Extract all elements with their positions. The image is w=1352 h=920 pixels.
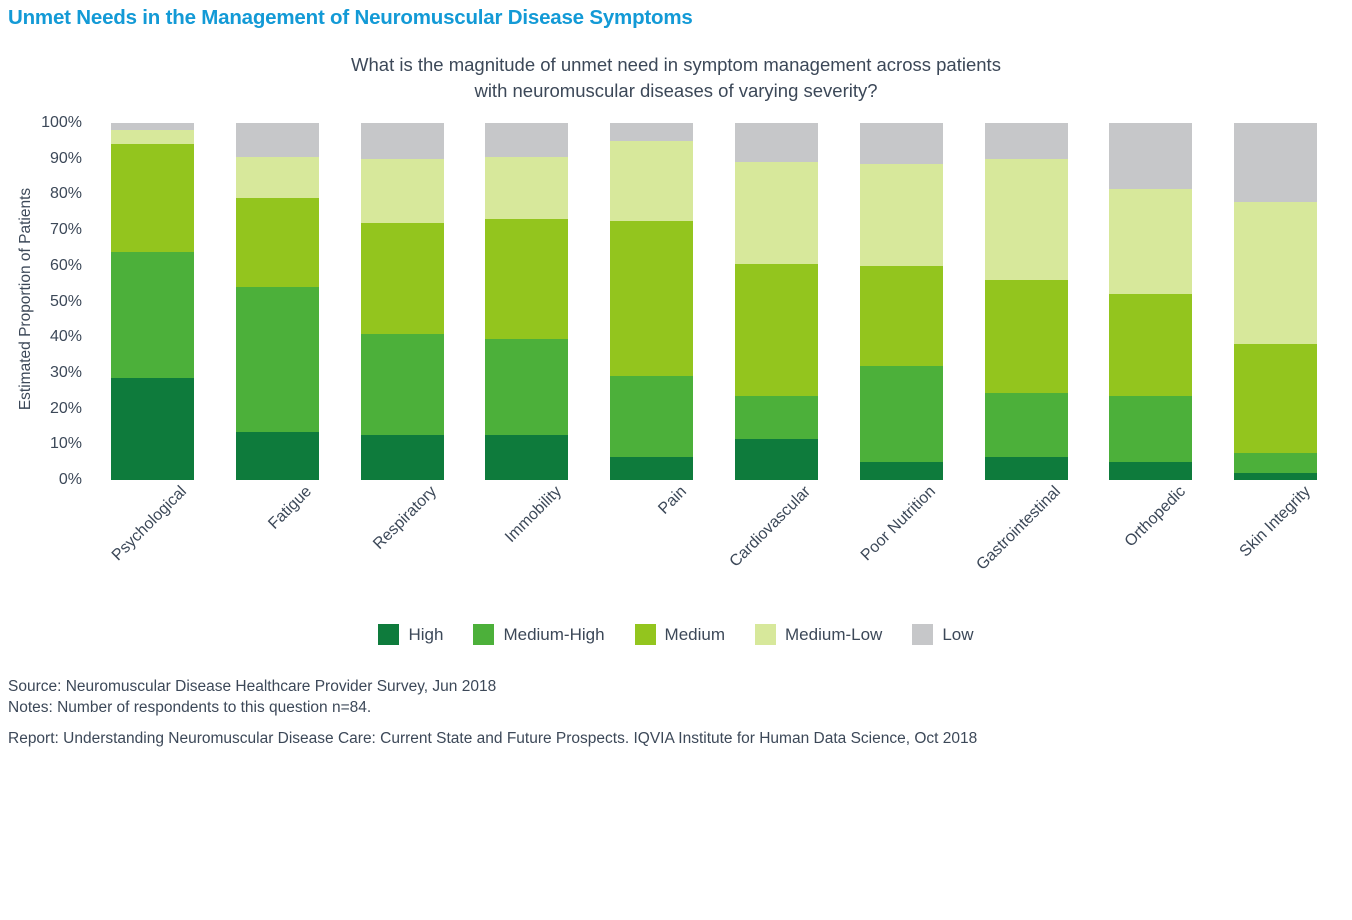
legend-item-medium[interactable]: Medium bbox=[635, 624, 725, 645]
bar-segment-low[interactable] bbox=[236, 123, 319, 157]
bar-segment-medium-high[interactable] bbox=[1234, 453, 1317, 473]
bar-segment-high[interactable] bbox=[860, 462, 943, 480]
bar-segment-low[interactable] bbox=[485, 123, 568, 157]
bar-stack bbox=[361, 123, 444, 480]
stacked-bars-container bbox=[90, 123, 1338, 480]
bar-segment-medium-high[interactable] bbox=[1109, 396, 1192, 462]
bar-segment-medium[interactable] bbox=[485, 219, 568, 339]
bar-segment-high[interactable] bbox=[735, 439, 818, 480]
bar-segment-low[interactable] bbox=[985, 123, 1068, 159]
bar-segment-medium-low[interactable] bbox=[1109, 189, 1192, 294]
bar-segment-high[interactable] bbox=[485, 435, 568, 480]
chart-footer: Source: Neuromuscular Disease Healthcare… bbox=[8, 676, 1344, 749]
bar-segment-medium-high[interactable] bbox=[985, 393, 1068, 457]
bar-segment-medium-high[interactable] bbox=[111, 252, 194, 379]
bar-segment-medium[interactable] bbox=[1109, 294, 1192, 396]
legend-item-medium-high[interactable]: Medium-High bbox=[473, 624, 604, 645]
bar-segment-medium-low[interactable] bbox=[236, 157, 319, 198]
bar-segment-medium-high[interactable] bbox=[485, 339, 568, 435]
bar-segment-medium-high[interactable] bbox=[361, 334, 444, 436]
legend-label: High bbox=[408, 625, 443, 645]
bar-segment-high[interactable] bbox=[361, 435, 444, 480]
bar-segment-medium-low[interactable] bbox=[361, 159, 444, 223]
bar-segment-high[interactable] bbox=[111, 378, 194, 480]
chart-legend: HighMedium-HighMediumMedium-LowLow bbox=[0, 624, 1352, 645]
bar-stack bbox=[610, 123, 693, 480]
bar-segment-medium-high[interactable] bbox=[610, 376, 693, 456]
bar-group-gastrointestinal[interactable] bbox=[985, 123, 1068, 480]
bar-group-psychological[interactable] bbox=[111, 123, 194, 480]
bar-segment-low[interactable] bbox=[610, 123, 693, 141]
bar-group-orthopedic[interactable] bbox=[1109, 123, 1192, 480]
bar-segment-high[interactable] bbox=[1234, 473, 1317, 480]
bar-segment-low[interactable] bbox=[1234, 123, 1317, 202]
bar-segment-low[interactable] bbox=[860, 123, 943, 164]
bar-segment-low[interactable] bbox=[1109, 123, 1192, 189]
bar-group-poor-nutrition[interactable] bbox=[860, 123, 943, 480]
y-axis-tick-100: 100% bbox=[26, 114, 82, 132]
bar-stack bbox=[860, 123, 943, 480]
footer-report: Report: Understanding Neuromuscular Dise… bbox=[8, 728, 1344, 749]
footer-notes: Notes: Number of respondents to this que… bbox=[8, 697, 1344, 718]
bar-segment-medium[interactable] bbox=[985, 280, 1068, 392]
legend-item-medium-low[interactable]: Medium-Low bbox=[755, 624, 882, 645]
y-axis-tick-40: 40% bbox=[26, 328, 82, 346]
bar-segment-medium[interactable] bbox=[361, 223, 444, 334]
footer-source: Source: Neuromuscular Disease Healthcare… bbox=[8, 676, 1344, 697]
legend-swatch-icon bbox=[635, 624, 656, 645]
legend-label: Medium bbox=[665, 625, 725, 645]
y-axis-tick-50: 50% bbox=[26, 293, 82, 311]
bar-segment-medium-high[interactable] bbox=[735, 396, 818, 439]
y-axis-tick-90: 90% bbox=[26, 150, 82, 168]
bar-segment-medium[interactable] bbox=[111, 144, 194, 251]
legend-swatch-icon bbox=[378, 624, 399, 645]
bar-stack bbox=[111, 123, 194, 480]
legend-swatch-icon bbox=[912, 624, 933, 645]
bar-segment-high[interactable] bbox=[1109, 462, 1192, 480]
bar-segment-medium-high[interactable] bbox=[236, 287, 319, 432]
bar-segment-medium-low[interactable] bbox=[1234, 202, 1317, 345]
bar-segment-medium-low[interactable] bbox=[735, 162, 818, 264]
bar-segment-low[interactable] bbox=[361, 123, 444, 159]
legend-label: Low bbox=[942, 625, 973, 645]
bar-stack bbox=[1234, 123, 1317, 480]
x-axis-tick-labels: PsychologicalFatigueRespiratoryImmobilit… bbox=[90, 483, 1338, 603]
chart-plot-area: Estimated Proportion of Patients 100%90%… bbox=[0, 0, 1352, 600]
bar-segment-medium-low[interactable] bbox=[985, 159, 1068, 280]
y-axis-tick-labels: 100%90%80%70%60%50%40%30%20%10%0% bbox=[26, 123, 82, 480]
legend-label: Medium-Low bbox=[785, 625, 882, 645]
bar-stack bbox=[236, 123, 319, 480]
bar-group-fatigue[interactable] bbox=[236, 123, 319, 480]
y-axis-tick-0: 0% bbox=[26, 471, 82, 489]
bar-segment-medium-low[interactable] bbox=[610, 141, 693, 221]
bar-stack bbox=[735, 123, 818, 480]
bar-segment-medium[interactable] bbox=[610, 221, 693, 376]
bar-segment-medium[interactable] bbox=[735, 264, 818, 396]
bar-segment-medium-high[interactable] bbox=[860, 366, 943, 462]
y-axis-tick-60: 60% bbox=[26, 257, 82, 275]
legend-item-low[interactable]: Low bbox=[912, 624, 973, 645]
bar-group-immobility[interactable] bbox=[485, 123, 568, 480]
bar-segment-medium-low[interactable] bbox=[485, 157, 568, 219]
y-axis-tick-20: 20% bbox=[26, 400, 82, 418]
bar-stack bbox=[485, 123, 568, 480]
bar-stack bbox=[985, 123, 1068, 480]
bar-segment-high[interactable] bbox=[236, 432, 319, 480]
bar-group-skin-integrity[interactable] bbox=[1234, 123, 1317, 480]
bar-stack bbox=[1109, 123, 1192, 480]
y-axis-tick-30: 30% bbox=[26, 364, 82, 382]
bar-segment-high[interactable] bbox=[610, 457, 693, 480]
y-axis-tick-10: 10% bbox=[26, 435, 82, 453]
legend-swatch-icon bbox=[473, 624, 494, 645]
legend-item-high[interactable]: High bbox=[378, 624, 443, 645]
bar-segment-high[interactable] bbox=[985, 457, 1068, 480]
legend-label: Medium-High bbox=[503, 625, 604, 645]
bar-segment-medium[interactable] bbox=[860, 266, 943, 366]
legend-swatch-icon bbox=[755, 624, 776, 645]
bar-group-pain[interactable] bbox=[610, 123, 693, 480]
bar-segment-low[interactable] bbox=[111, 123, 194, 130]
bar-segment-low[interactable] bbox=[735, 123, 818, 162]
bar-group-cardiovascular[interactable] bbox=[735, 123, 818, 480]
bar-segment-medium-low[interactable] bbox=[111, 130, 194, 144]
bar-segment-medium-low[interactable] bbox=[860, 164, 943, 266]
bar-group-respiratory[interactable] bbox=[361, 123, 444, 480]
y-axis-tick-80: 80% bbox=[26, 185, 82, 203]
bar-segment-medium[interactable] bbox=[236, 198, 319, 287]
bar-segment-medium[interactable] bbox=[1234, 344, 1317, 453]
y-axis-tick-70: 70% bbox=[26, 221, 82, 239]
